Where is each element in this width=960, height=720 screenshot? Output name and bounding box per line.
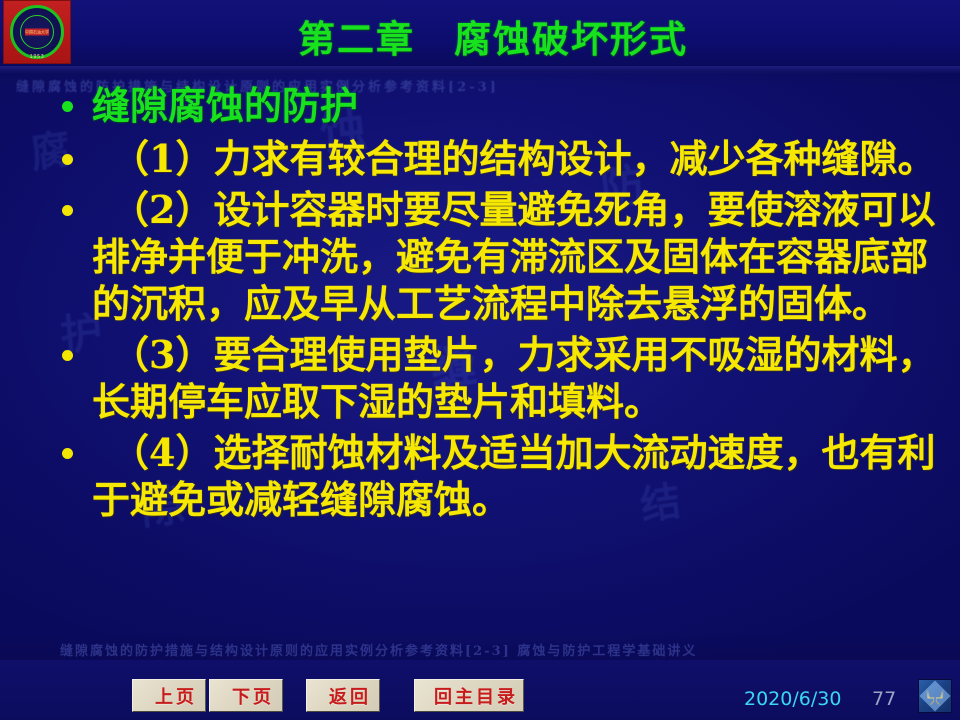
bullet-text: （1）力求有较合理的结构设计，减少各种缝隙。 [92, 135, 942, 182]
bullet-marker-icon [62, 205, 73, 216]
bullet-marker-icon [62, 350, 73, 361]
back-button-label: 返回 [307, 680, 379, 711]
bullet-item: （2）设计容器时要尽量避免死角，要使溶液可以排净并便于冲洗，避免有滞流区及固体在… [0, 186, 960, 327]
bullet-text: （4）选择耐蚀材料及适当加大流动速度，也有利于避免或减轻缝隙腐蚀。 [92, 429, 942, 523]
page-title: 第二章 腐蚀破坏形式 [0, 9, 960, 63]
bullet-marker-icon [62, 448, 73, 459]
bullet-item: 缝隙腐蚀的防护 [0, 82, 960, 129]
bullet-text: 缝隙腐蚀的防护 [92, 82, 942, 129]
back-button[interactable]: 返回 [306, 679, 380, 712]
slide-body: 缝隙腐蚀的防护 （1）力求有较合理的结构设计，减少各种缝隙。 （2）设计容器时要… [0, 78, 960, 638]
menorah-icon [918, 679, 952, 713]
star-shape [919, 680, 950, 711]
footer-page-number: 77 [872, 688, 896, 710]
footer-date: 2020/6/30 [744, 688, 841, 710]
bullet-text: （3）要合理使用垫片，力求采用不吸湿的材料，长期停车应取下湿的垫片和填料。 [92, 331, 942, 425]
header-underline [0, 66, 960, 74]
bullet-text: （2）设计容器时要尽量避免死角，要使溶液可以排净并便于冲洗，避免有滞流区及固体在… [92, 186, 942, 327]
bullet-item: （4）选择耐蚀材料及适当加大流动速度，也有利于避免或减轻缝隙腐蚀。 [0, 429, 960, 523]
bullet-marker-icon [62, 154, 73, 165]
prev-page-button-label: 上页 [133, 680, 205, 711]
prev-page-button[interactable]: 上页 [132, 679, 206, 712]
slide-header: 中国石油大学 1953 第二章 腐蚀破坏形式 [0, 0, 960, 72]
bullet-marker-icon [62, 101, 73, 112]
next-page-button[interactable]: 下页 [209, 679, 283, 712]
bullet-item: （1）力求有较合理的结构设计，减少各种缝隙。 [0, 135, 960, 182]
bullet-item: （3）要合理使用垫片，力求采用不吸湿的材料，长期停车应取下湿的垫片和填料。 [0, 331, 960, 425]
presentation-slide: 缝隙腐蚀的防护措施与结构设计原则的应用实例分析参考资料[2-3] 腐 蚀 防 护… [0, 0, 960, 720]
main-menu-button[interactable]: 回主目录 [414, 679, 524, 712]
next-page-button-label: 下页 [210, 680, 282, 711]
main-menu-button-label: 回主目录 [415, 680, 523, 711]
